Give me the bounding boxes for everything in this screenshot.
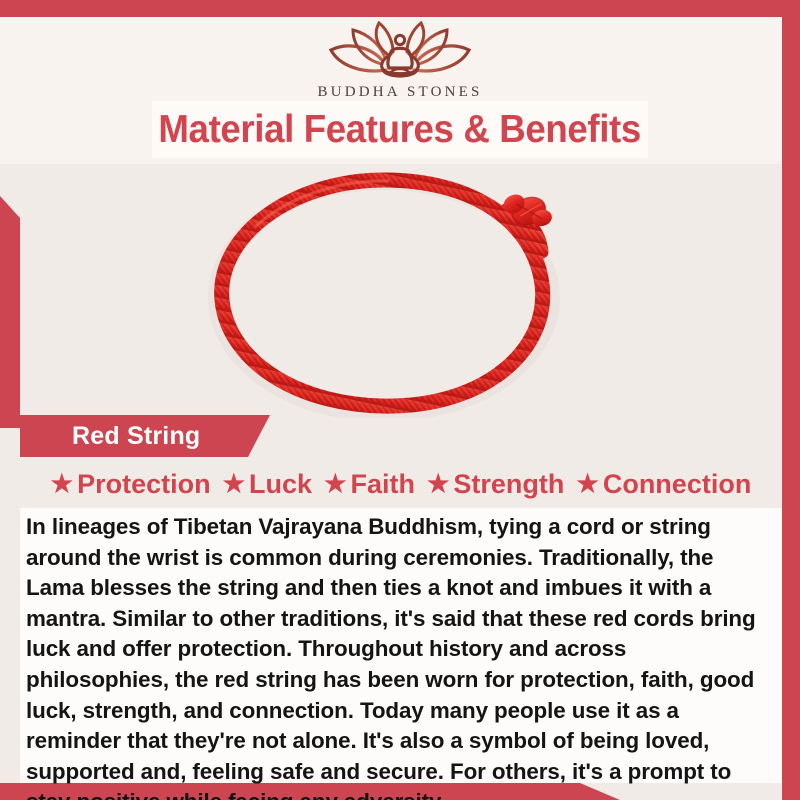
page-title: Material Features & Benefits: [159, 108, 642, 152]
star-icon: ★: [427, 472, 449, 497]
star-icon: ★: [324, 472, 346, 497]
description-text: In lineages of Tibetan Vajrayana Buddhis…: [20, 512, 782, 800]
star-icon: ★: [223, 472, 245, 497]
benefit-list: ★ Protection ★ Luck ★ Faith ★ Strength ★…: [20, 463, 782, 505]
infographic-poster: BUDDHA STONES Material Features & Benefi…: [0, 0, 800, 800]
frame-top-bar: [0, 0, 800, 17]
benefit-item-connection: ★ Connection: [571, 469, 756, 500]
title-banner: Material Features & Benefits: [152, 101, 648, 158]
benefit-item-strength: ★ Strength: [422, 469, 569, 500]
material-name-label: Red String: [72, 422, 200, 451]
frame-right-bar: [782, 0, 800, 800]
star-icon: ★: [51, 472, 73, 497]
benefit-label: Connection: [603, 469, 752, 500]
benefit-item-protection: ★ Protection: [46, 469, 216, 500]
benefit-label: Faith: [350, 469, 415, 500]
benefit-label: Protection: [77, 469, 211, 500]
benefit-label: Strength: [453, 469, 564, 500]
star-icon: ★: [576, 472, 598, 497]
brand-name: BUDDHA STONES: [0, 84, 800, 101]
benefit-label: Luck: [249, 469, 312, 500]
benefit-item-luck: ★ Luck: [218, 469, 317, 500]
brand-logo: BUDDHA STONES: [0, 20, 800, 101]
description-panel: In lineages of Tibetan Vajrayana Buddhis…: [20, 508, 782, 783]
lotus-meditation-icon: [0, 20, 800, 82]
benefit-item-faith: ★ Faith: [319, 469, 420, 500]
material-name-ribbon: Red String: [20, 415, 270, 457]
frame-left-bar: [0, 196, 20, 428]
product-image-red-string-bracelet: [176, 166, 624, 418]
